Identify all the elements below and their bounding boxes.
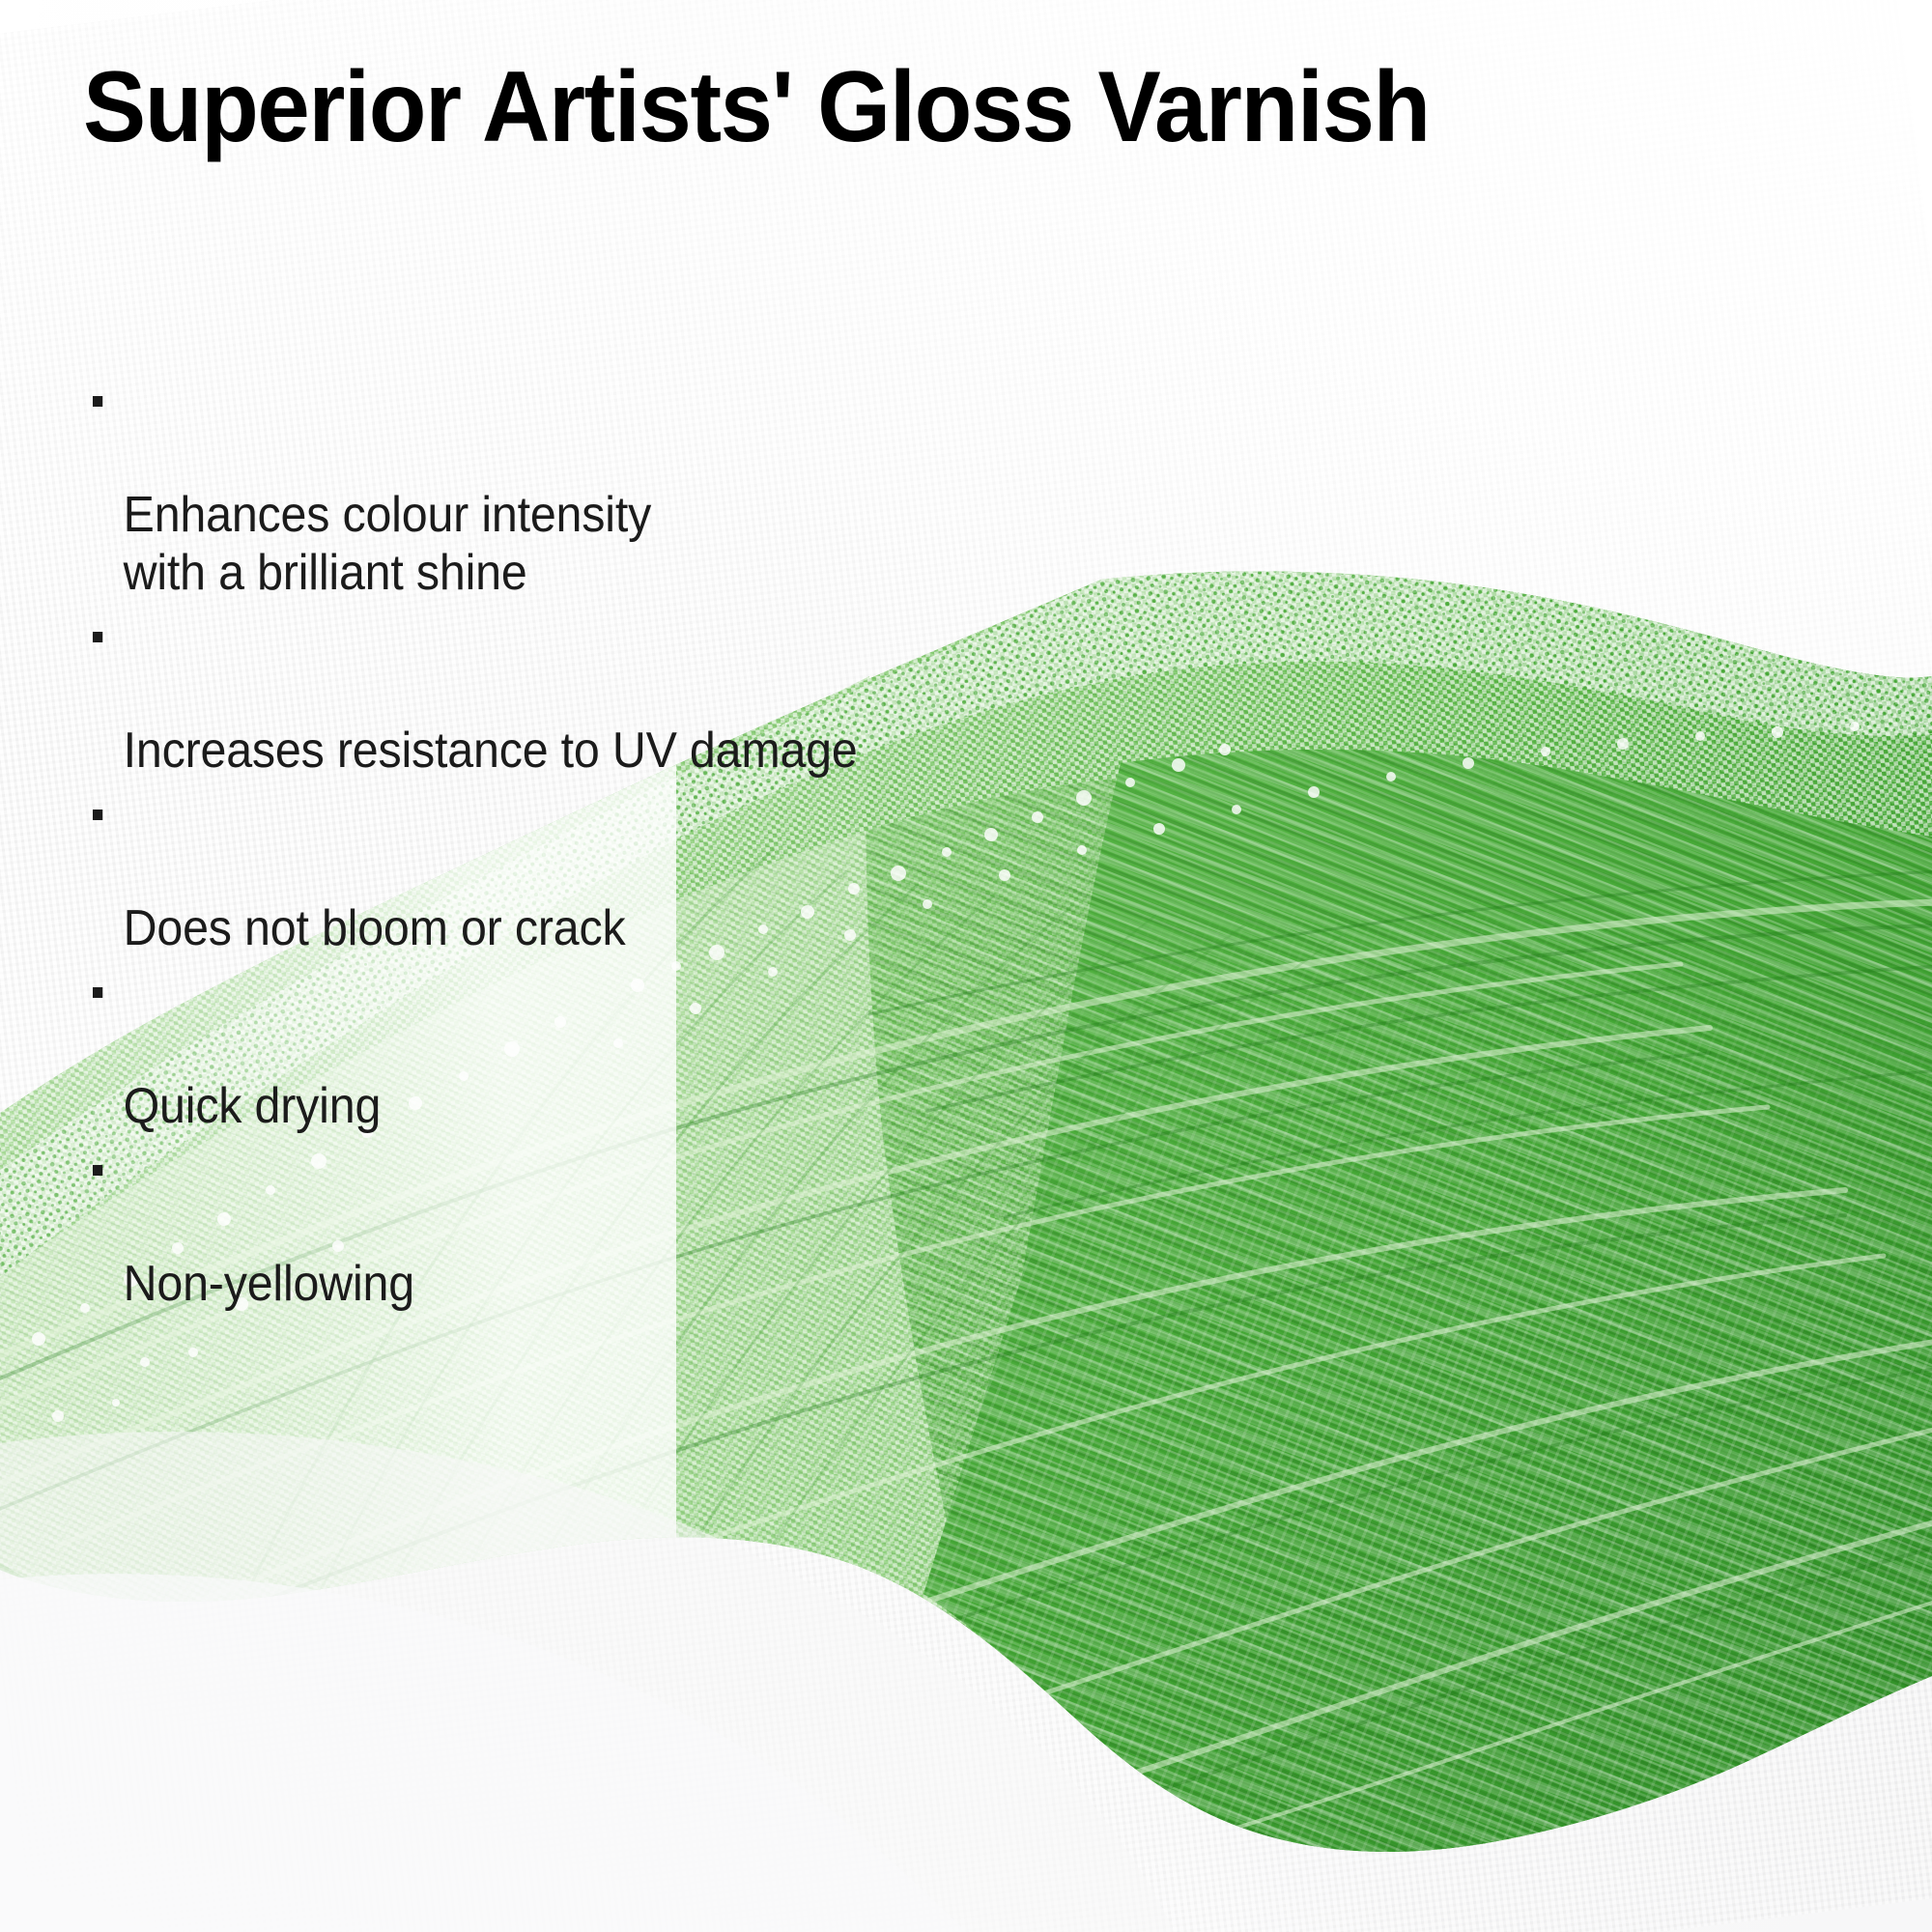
feature-item-label: Non-yellowing bbox=[124, 1256, 414, 1312]
feature-item: Increases resistance to UV damage bbox=[93, 606, 991, 780]
square-bullet-icon bbox=[93, 987, 102, 998]
page-title: Superior Artists' Gloss Varnish bbox=[83, 56, 1430, 158]
feature-bullet-list: Enhances colour intensity with a brillia… bbox=[93, 370, 1059, 1317]
square-bullet-icon bbox=[93, 632, 102, 642]
feature-item: Non-yellowing bbox=[93, 1139, 991, 1313]
square-bullet-icon bbox=[93, 396, 102, 407]
feature-item-label: Quick drying bbox=[124, 1078, 382, 1134]
square-bullet-icon bbox=[93, 1165, 102, 1176]
square-bullet-icon bbox=[93, 810, 102, 820]
feature-item: Does not bloom or crack bbox=[93, 783, 991, 957]
feature-item-label: Increases resistance to UV damage bbox=[124, 723, 858, 779]
feature-item: Enhances colour intensity with a brillia… bbox=[93, 370, 991, 602]
product-feature-card: Superior Artists' Gloss Varnish Enhances… bbox=[0, 0, 1932, 1932]
feature-item-label: Enhances colour intensity with a brillia… bbox=[124, 487, 651, 601]
feature-item: Quick drying bbox=[93, 961, 991, 1135]
feature-item-label: Does not bloom or crack bbox=[124, 900, 626, 956]
